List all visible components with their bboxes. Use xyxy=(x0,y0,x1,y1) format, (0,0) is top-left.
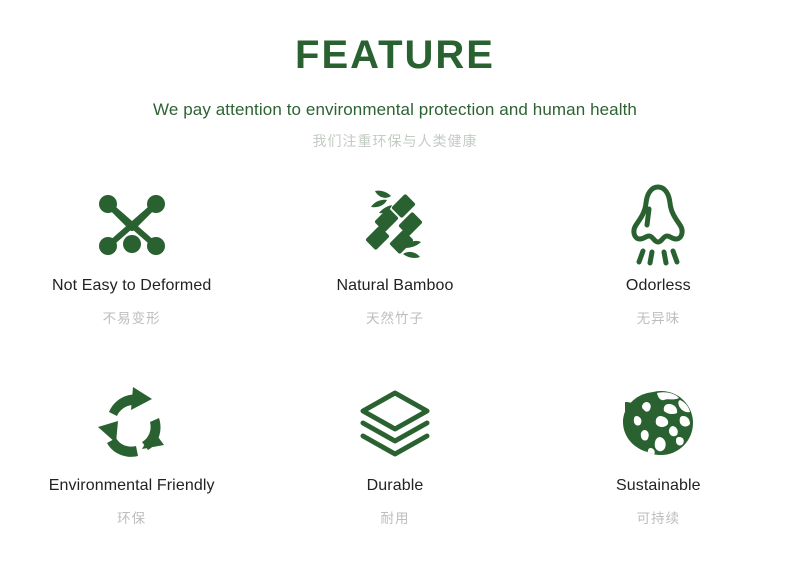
feature-label-cn: 耐用 xyxy=(380,507,409,527)
globe-leaf-icon xyxy=(617,373,699,473)
feature-label-cn: 环保 xyxy=(117,507,146,527)
feature-label-cn: 无异味 xyxy=(637,307,681,327)
bamboo-icon xyxy=(358,177,432,273)
recycle-icon xyxy=(92,373,172,473)
subtitle-chinese: 我们注重环保与人类健康 xyxy=(0,131,790,151)
feature-label-cn: 可持续 xyxy=(637,507,681,527)
feature-label-cn: 天然竹子 xyxy=(366,307,424,327)
molecule-network-icon xyxy=(95,177,169,273)
section-header: FEATURE We pay attention to environmenta… xyxy=(0,0,790,151)
feature-label-en: Sustainable xyxy=(616,477,701,495)
nose-smell-icon xyxy=(621,177,695,273)
feature-label-en: Environmental Friendly xyxy=(49,477,215,495)
feature-item-odorless: Odorless 无异味 xyxy=(527,177,790,373)
feature-label-en: Durable xyxy=(367,477,424,495)
feature-section: FEATURE We pay attention to environmenta… xyxy=(0,0,790,576)
feature-item-natural-bamboo: Natural Bamboo 天然竹子 xyxy=(263,177,526,373)
subtitle-english: We pay attention to environmental protec… xyxy=(0,100,790,120)
feature-label-en: Natural Bamboo xyxy=(336,277,453,295)
layers-stack-icon xyxy=(355,373,435,473)
feature-label-en: Odorless xyxy=(626,277,691,295)
feature-item-durable: Durable 耐用 xyxy=(263,373,526,569)
feature-item-not-easy-to-deformed: Not Easy to Deformed 不易变形 xyxy=(0,177,263,373)
feature-label-cn: 不易变形 xyxy=(103,307,161,327)
feature-grid: Not Easy to Deformed 不易变形 xyxy=(0,177,790,569)
feature-item-environmental-friendly: Environmental Friendly 环保 xyxy=(0,373,263,569)
page-title: FEATURE xyxy=(0,34,790,76)
feature-label-en: Not Easy to Deformed xyxy=(52,277,211,295)
feature-item-sustainable: Sustainable 可持续 xyxy=(527,373,790,569)
